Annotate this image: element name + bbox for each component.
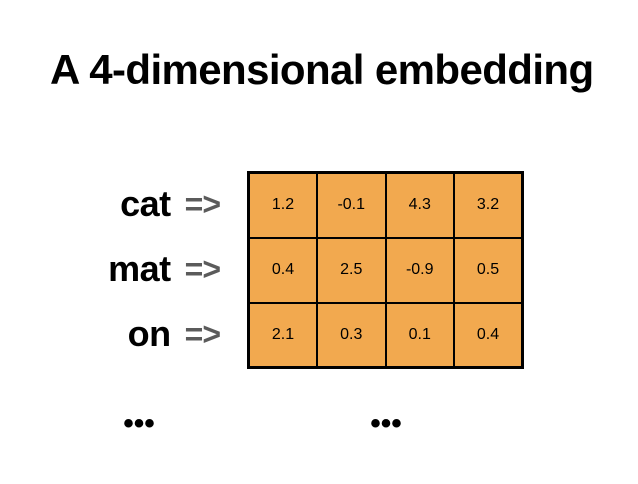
matrix-cell: 0.4 (249, 238, 318, 303)
matrix-cell: 0.5 (454, 238, 523, 303)
matrix-cell: 3.2 (454, 173, 523, 238)
matrix-cell: -0.1 (317, 173, 386, 238)
word-list: cat => mat => on => (0, 171, 236, 366)
ellipsis-matrix: ••• (370, 409, 402, 439)
table-row: 1.2 -0.1 4.3 3.2 (249, 173, 523, 238)
matrix-cell: 0.4 (454, 303, 523, 368)
matrix-cell: 0.3 (317, 303, 386, 368)
table-row: 2.1 0.3 0.1 0.4 (249, 303, 523, 368)
maps-to-arrow-icon: => (185, 253, 220, 285)
word-label-cat: cat (120, 186, 171, 222)
embedding-matrix: 1.2 -0.1 4.3 3.2 0.4 2.5 -0.9 0.5 2.1 0.… (247, 171, 524, 369)
maps-to-arrow-icon: => (185, 318, 220, 350)
matrix-cell: 2.5 (317, 238, 386, 303)
word-row-mat: mat => (0, 236, 236, 301)
ellipsis-words: ••• (123, 409, 155, 439)
word-row-on: on => (0, 301, 236, 366)
matrix-cell: 4.3 (386, 173, 455, 238)
maps-to-arrow-icon: => (185, 188, 220, 220)
matrix-cell: 2.1 (249, 303, 318, 368)
page-title: A 4-dimensional embedding (50, 48, 610, 92)
slide-canvas: { "slide": { "title": "A 4-dimensional e… (0, 0, 638, 484)
word-row-cat: cat => (0, 171, 236, 236)
word-label-mat: mat (108, 251, 171, 287)
matrix-cell: 0.1 (386, 303, 455, 368)
word-label-on: on (128, 316, 171, 352)
matrix-cell: -0.9 (386, 238, 455, 303)
table-row: 0.4 2.5 -0.9 0.5 (249, 238, 523, 303)
matrix-cell: 1.2 (249, 173, 318, 238)
